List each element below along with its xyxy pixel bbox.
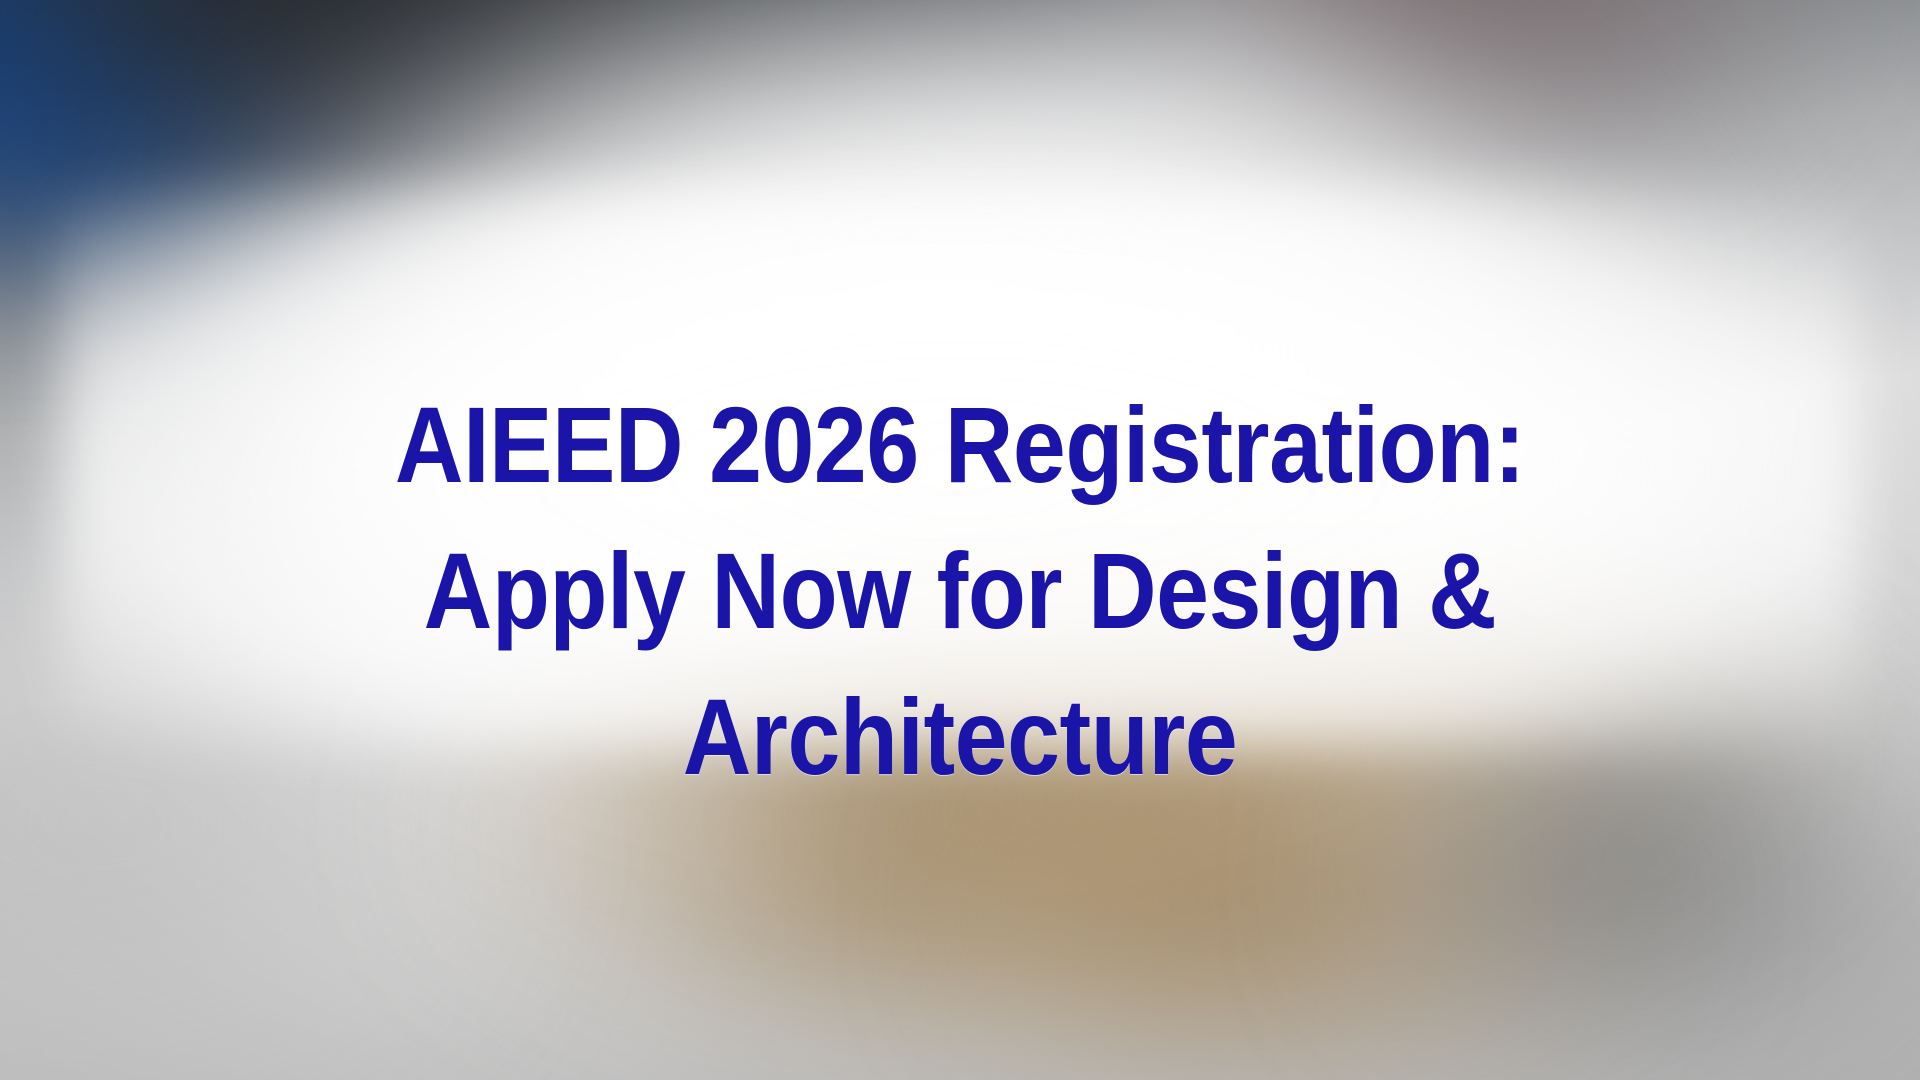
page-title-line-1: AIEED 2026 Registration:: [115, 372, 1805, 518]
background-blob-dark-top: [0, 0, 1180, 220]
featured-image-canvas: AIEED 2026 Registration: Apply Now for D…: [0, 0, 1920, 1080]
background-blob-blue-notebook: [0, 0, 480, 270]
background-blob-warm-top-right: [1160, 0, 1800, 140]
page-title: AIEED 2026 Registration: Apply Now for D…: [0, 372, 1920, 810]
page-title-line-3: Architecture: [115, 664, 1805, 810]
page-title-line-2: Apply Now for Design &: [115, 518, 1805, 664]
